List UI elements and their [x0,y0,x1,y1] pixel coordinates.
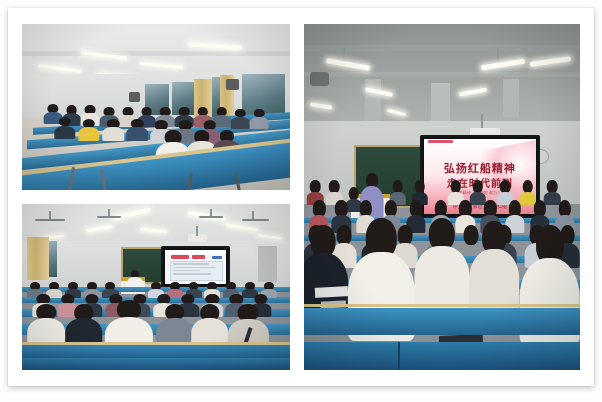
notebook [315,286,349,298]
photo-top-left-scene [22,24,290,190]
ceiling-fan-rod [210,209,212,216]
slide-title-line-1: 弘扬红船精神 [424,160,536,176]
door [258,246,277,283]
presenter [127,270,143,288]
student [414,218,469,308]
student [127,119,148,141]
photo-collage: 弘扬红船精神 走在时代前列 红船精神 开天辟地 敢为人先 中共一大会址 · 南湖… [22,24,580,370]
wall-display-content [165,250,225,284]
student [27,304,65,347]
ceiling-beam [503,79,520,117]
student [231,109,250,129]
slide-title-chip [192,255,205,258]
page-root: 弘扬红船精神 走在时代前列 红船精神 开天辟地 敢为人先 中共一大会址 · 南湖… [0,0,602,402]
front-desk [304,308,580,336]
photo-right[interactable]: 弘扬红船精神 走在时代前列 红船精神 开天辟地 敢为人先 中共一大会址 · 南湖… [304,24,580,370]
slide-text-line [173,273,212,274]
ceiling-beam [304,72,580,77]
slide-header-bar [165,250,225,254]
photo-top-left[interactable] [22,24,290,190]
student [102,119,123,141]
ceiling-fan [35,219,64,221]
ceiling-fan [199,216,223,218]
student [54,117,75,139]
desk-seam [398,342,400,370]
ceiling-fan [97,216,121,218]
ceiling-beam [365,79,382,121]
speaker-box [226,79,239,91]
slide-text-line [173,267,216,268]
front-desk [304,342,580,370]
student [470,221,520,311]
slide-badge [212,256,222,259]
wall-fan [310,72,329,86]
curtain [27,237,48,280]
slide-title-chip [171,255,189,258]
light-mount [497,48,499,62]
ceiling-beam [431,83,450,121]
student [250,109,269,129]
student [156,304,194,347]
document-slide [165,250,225,284]
window [49,241,57,278]
slide-text-line [173,263,209,264]
photo-right-scene: 弘扬红船精神 走在时代前列 红船精神 开天辟地 敢为人先 中共一大会址 · 南湖… [304,24,580,370]
photo-collage-card: 弘扬红船精神 走在时代前列 红船精神 开天辟地 敢为人先 中共一大会址 · 南湖… [8,8,594,386]
photo-bottom-left-scene [22,204,290,370]
collage-right-column: 弘扬红船精神 走在时代前列 红船精神 开天辟地 敢为人先 中共一大会址 · 南湖… [304,24,580,370]
speaker-box [129,92,140,102]
front-desk-edge [304,304,580,307]
front-desk [22,343,290,358]
slide-title-line-1-text: 弘扬红船精神 [444,163,516,175]
ceiling-fan-rod [252,211,254,219]
front-desk-edge [22,342,290,345]
light-mount [343,48,345,62]
photo-bottom-left[interactable] [22,204,290,370]
front-desk [22,358,290,370]
ceiling-fan [242,219,269,221]
ceiling-beam [304,45,580,51]
ceiling-fan-rod [49,211,51,219]
student [78,119,99,141]
ceiling-beam [22,51,290,56]
projector-mount [196,226,198,236]
collage-left-column [22,24,290,370]
ceiling-fan-rod [108,209,110,216]
slide-tag [428,140,453,143]
